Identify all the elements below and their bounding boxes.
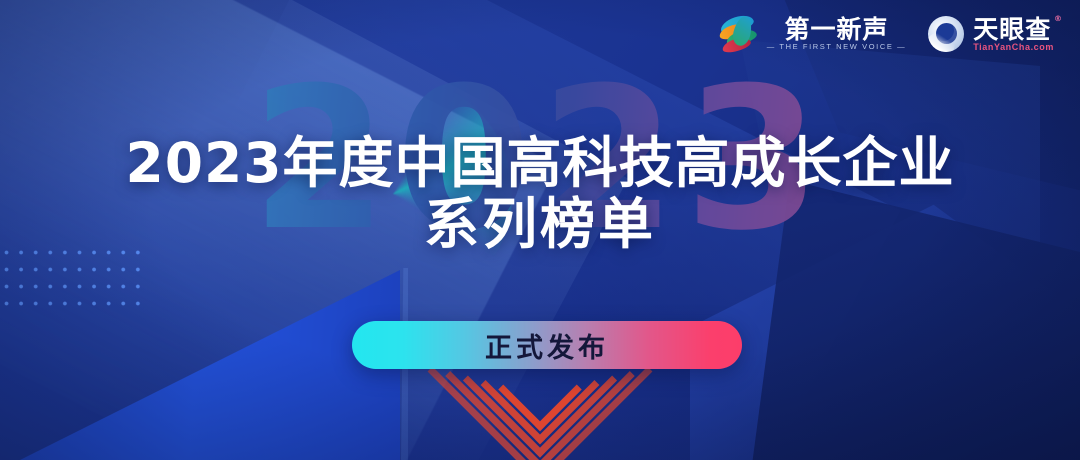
page-title: 2023年度中国高科技高成长企业 系列榜单: [0, 134, 1080, 257]
logo-diyixinsheng[interactable]: 第一新声 — THE FIRST NEW VOICE —: [718, 14, 906, 54]
logo-tianyancha-cn: 天眼查 ®: [973, 17, 1054, 42]
logo-diyixinsheng-tagline: — THE FIRST NEW VOICE —: [767, 43, 906, 51]
page-title-line-1: 2023年度中国高科技高成长企业: [0, 134, 1080, 193]
logo-tianyancha-cn-label: 天眼查: [973, 15, 1051, 44]
trademark-icon: ®: [1054, 15, 1062, 23]
release-badge-label: 正式发布: [352, 321, 742, 369]
swoosh-ribbon-logo-icon: [718, 14, 758, 54]
logo-tianyancha-text: 天眼查 ® TianYanCha.com: [973, 17, 1054, 52]
logo-diyixinsheng-cn: 第一新声: [785, 17, 889, 42]
header-logo-row: 第一新声 — THE FIRST NEW VOICE — 天眼查 ® TianY…: [718, 14, 1054, 54]
logo-tianyancha-domain: TianYanCha.com: [973, 43, 1054, 52]
promo-banner: 2023 第一新声 — THE FIRST NEW VOICE — 天眼查: [0, 0, 1080, 460]
logo-diyixinsheng-text: 第一新声 — THE FIRST NEW VOICE —: [767, 17, 906, 51]
logo-tianyancha[interactable]: 天眼查 ® TianYanCha.com: [928, 16, 1054, 52]
page-title-line-2: 系列榜单: [0, 193, 1080, 257]
eye-aperture-logo-icon: [928, 16, 964, 52]
